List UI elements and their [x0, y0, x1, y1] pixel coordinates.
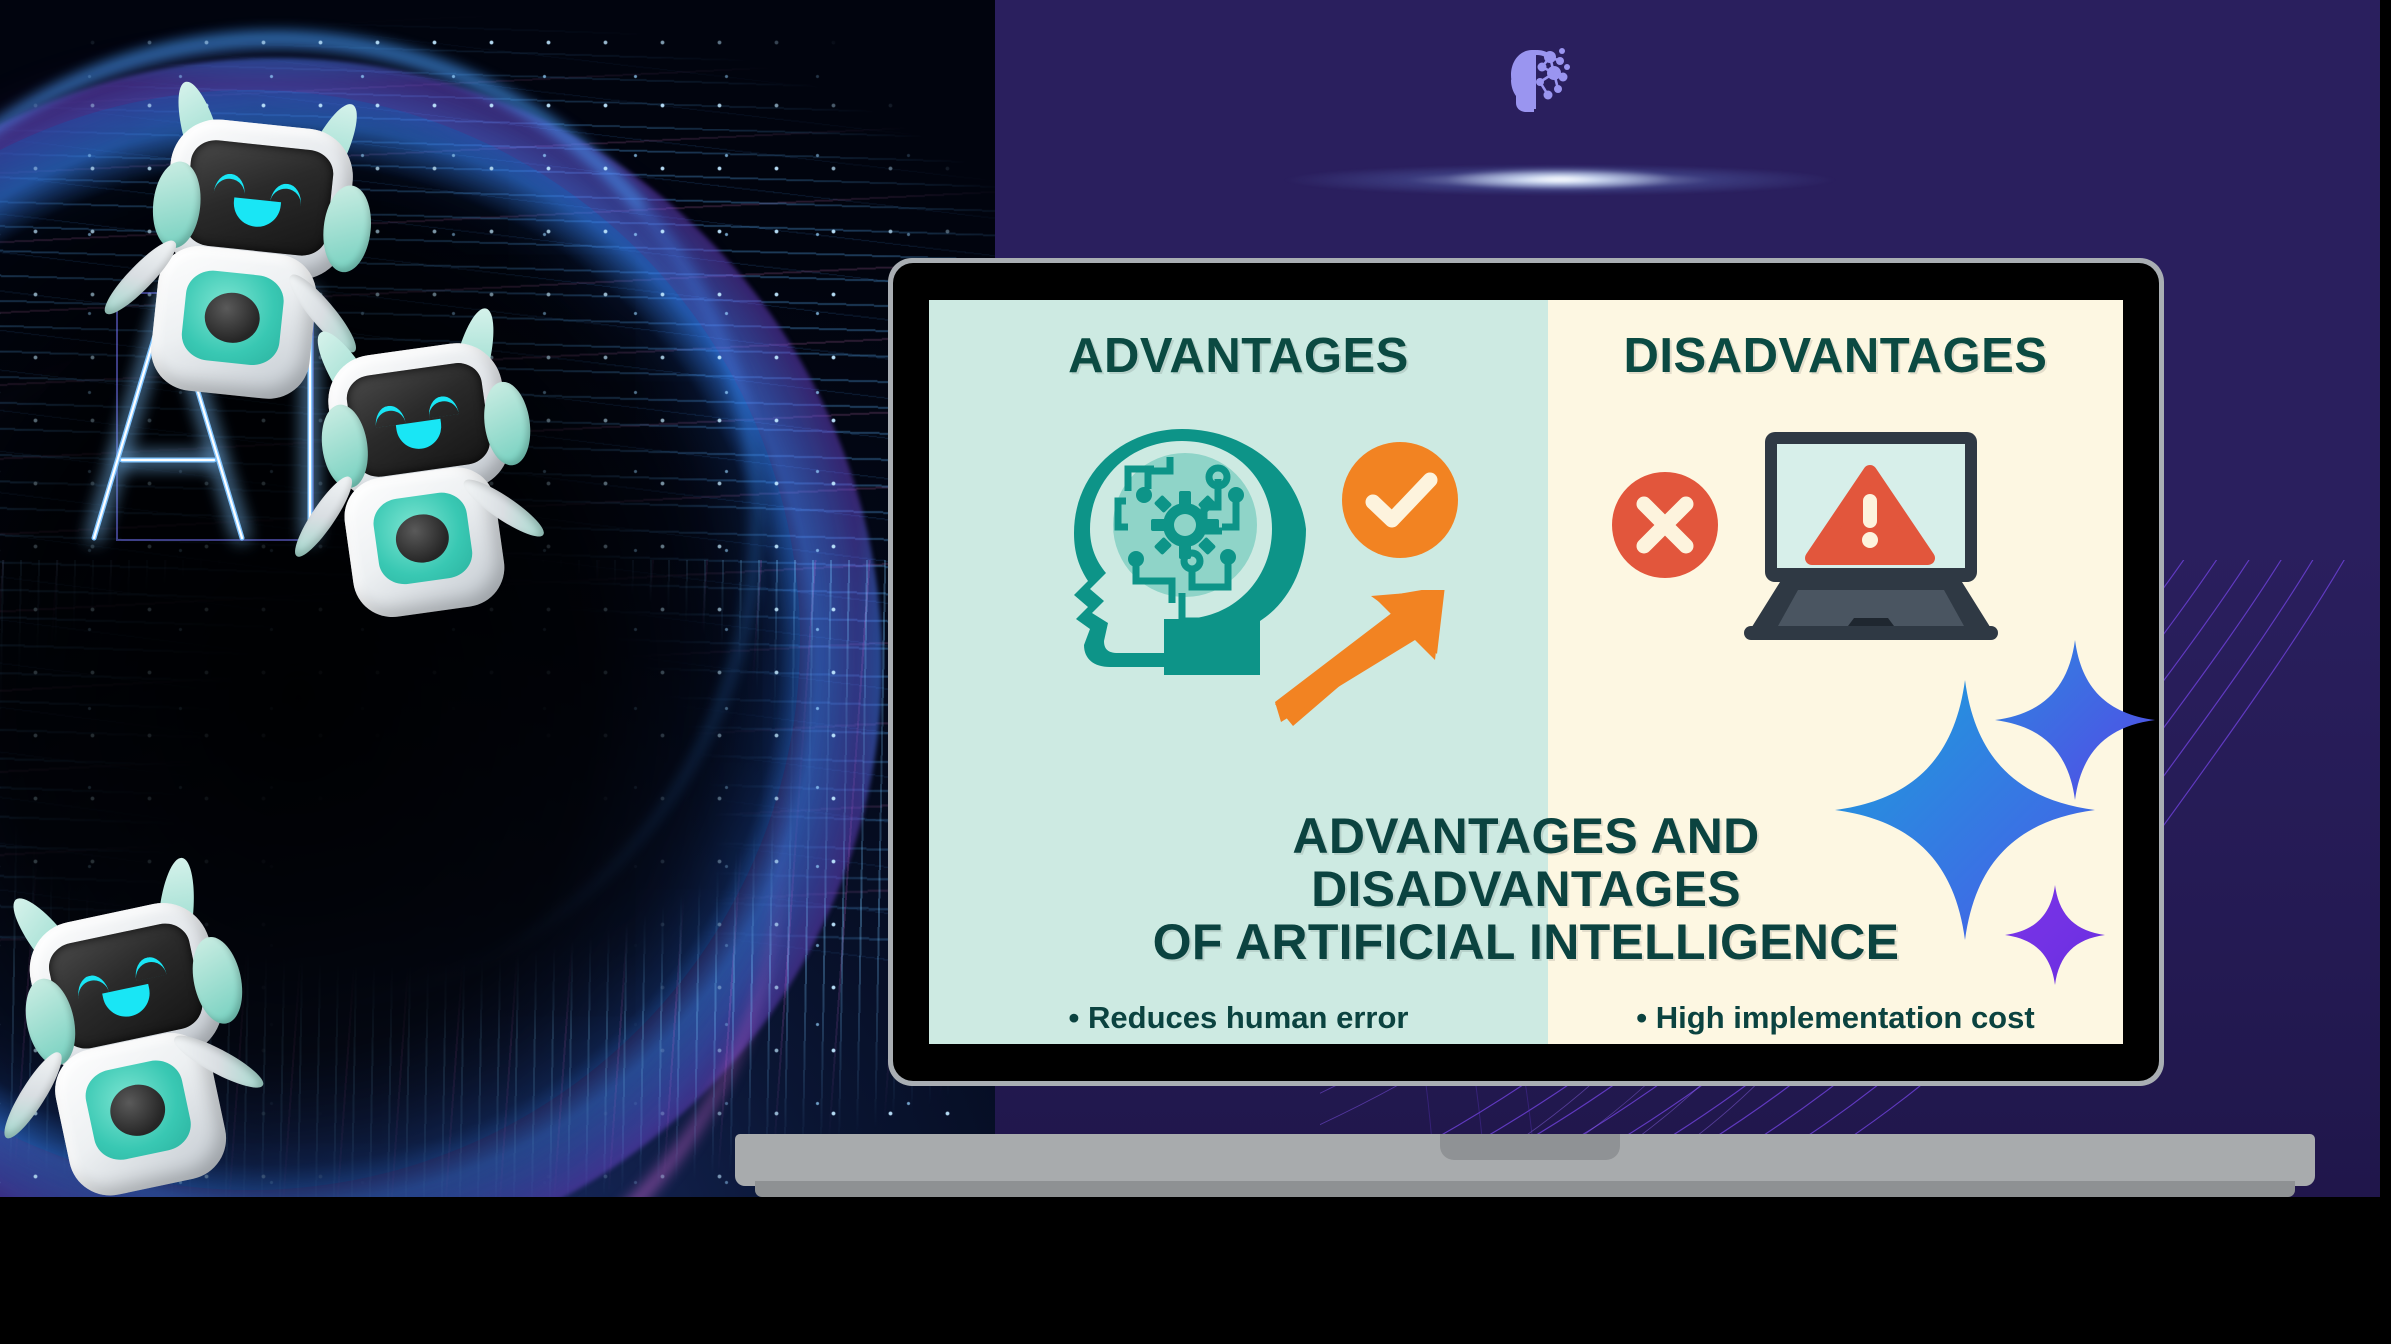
bullet-row: • Reduces human error • High implementat…: [929, 1000, 2123, 1036]
disadvantages-bullet: • High implementation cost: [1548, 1000, 2123, 1036]
laptop-base-lip: [755, 1181, 2295, 1197]
laptop-base-notch: [1440, 1134, 1620, 1160]
robot-eye-right: [427, 394, 459, 418]
robot-body: [147, 242, 320, 403]
robot-core: [80, 1055, 195, 1165]
red-x-circle-icon: [1610, 470, 1720, 580]
robot-face-screen: [182, 138, 335, 258]
orange-up-arrow-icon: [1275, 590, 1445, 730]
advantages-bullet: • Reduces human error: [929, 1000, 1548, 1036]
robot-core-center: [393, 511, 452, 566]
ai-head-network-icon: [1492, 32, 1572, 112]
robot-core-center: [106, 1080, 171, 1142]
robot-core: [179, 268, 286, 368]
robot-core: [370, 489, 475, 588]
robot-middle: [307, 307, 549, 613]
laptop-warning-icon: [1720, 430, 2030, 645]
robot-mouth: [396, 419, 444, 451]
robot-mouth: [102, 984, 154, 1021]
bottom-black-strip: [0, 1197, 2391, 1344]
robot-eye-left: [213, 172, 246, 196]
light-flare-core: [1445, 168, 1675, 190]
disadvantages-heading: DISADVANTAGES: [1548, 328, 2123, 384]
ai-brain-head-icon: [1040, 425, 1310, 675]
slide-canvas: ADVANTAGES DISADVANTAGES: [0, 0, 2391, 1344]
sparkle-star-icon: [1995, 640, 2155, 800]
orange-check-circle-icon: [1340, 440, 1460, 560]
robot-core-center: [202, 290, 262, 346]
robot-eye-right: [132, 954, 167, 981]
robot-mouth: [231, 197, 281, 229]
right-black-edge: [2380, 0, 2391, 1344]
sparkle-star-icon: [2005, 885, 2105, 985]
advantages-heading: ADVANTAGES: [929, 328, 1548, 384]
